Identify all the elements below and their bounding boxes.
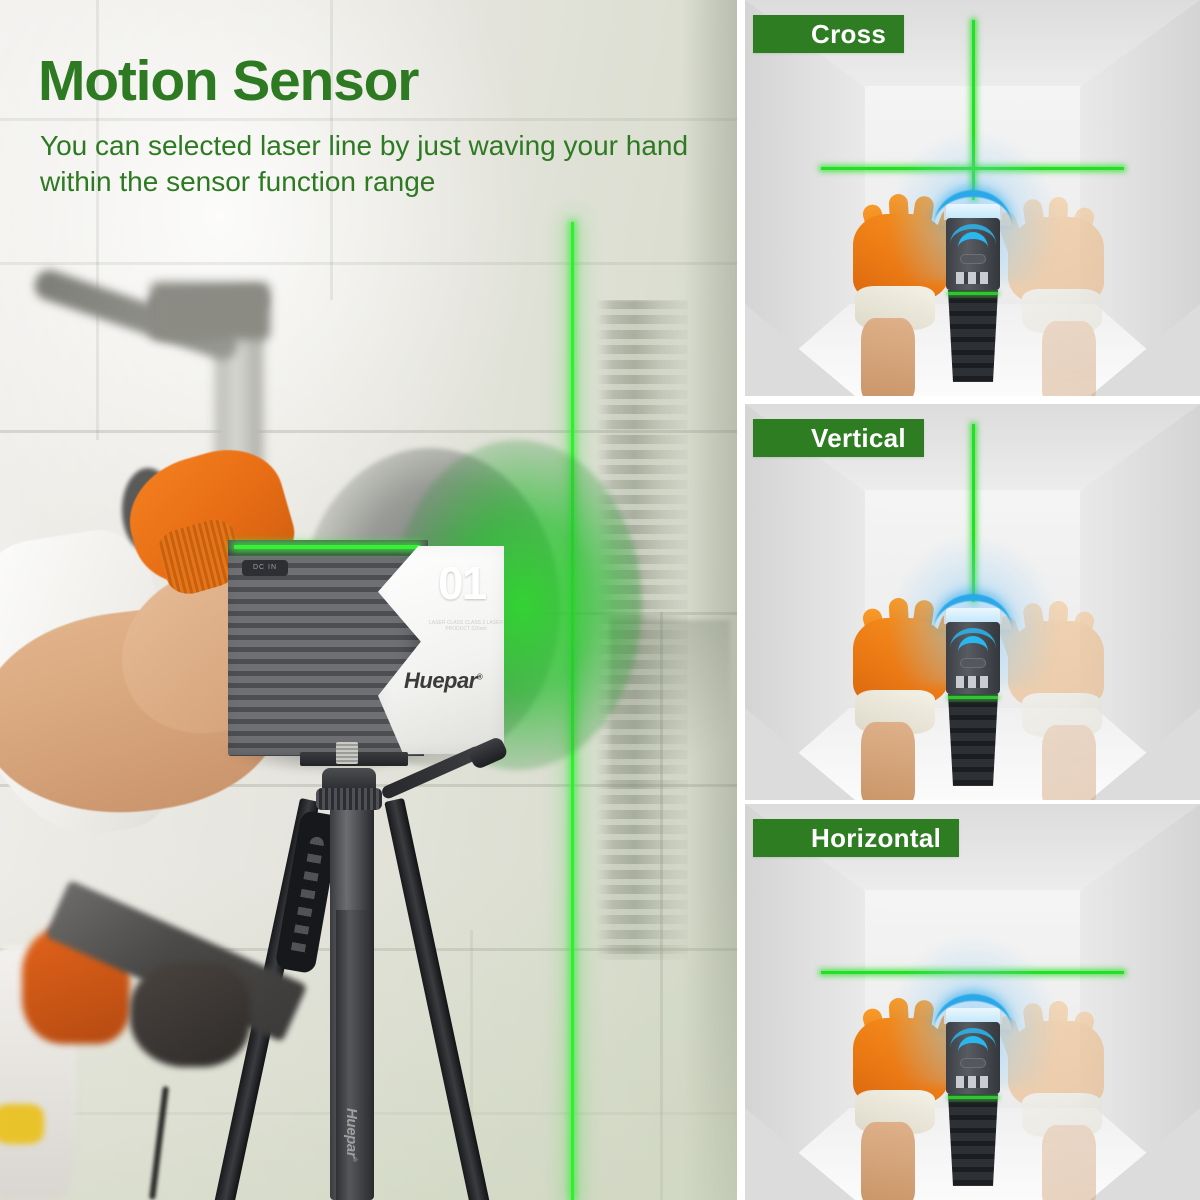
wrist: [861, 1122, 915, 1200]
wrist: [861, 318, 915, 396]
tripod-mount-screw: [336, 742, 358, 764]
registered-mark-icon: ®: [477, 673, 482, 682]
device-power-button[interactable]: [960, 254, 986, 264]
registered-mark-icon: ®: [351, 1157, 357, 1161]
panel-label-cross: Cross: [753, 15, 904, 53]
wrist: [1042, 321, 1096, 396]
device-laser-slit: [948, 1096, 998, 1099]
panel-label-horizontal: Horizontal: [753, 819, 959, 857]
foreground-worker-glove: [130, 962, 250, 1067]
background-machine-head: [150, 282, 270, 340]
device-model-number: 01: [438, 556, 485, 610]
laser-level-device: DC IN 01 LASER CLASS CLASS 2 LASER PRODU…: [228, 536, 498, 766]
device-brand-logo: Huepar®: [404, 668, 482, 694]
wall-seam: [0, 262, 737, 265]
panel-horizontal: Horizontal: [745, 804, 1200, 1200]
panel-cross: Cross: [745, 0, 1200, 396]
device-lower-body: [948, 1094, 998, 1186]
tripod-lock-knob: [316, 788, 382, 810]
tripod-brand-text: Huepar: [343, 1108, 360, 1157]
device-keypad[interactable]: [956, 272, 990, 284]
device-laser-emitter-line: [234, 545, 420, 549]
wall-seam: [0, 118, 737, 121]
panel-label-vertical: Vertical: [753, 419, 924, 457]
wrist: [1042, 725, 1096, 800]
device-fine-print: LASER CLASS CLASS 2 LASER PRODUCT 520nm: [422, 620, 510, 632]
device-keypad[interactable]: [956, 1076, 990, 1088]
page-title: Motion Sensor: [38, 52, 418, 112]
wrist: [1042, 1125, 1096, 1200]
device-lower-body: [948, 694, 998, 786]
device-laser-slit: [948, 696, 998, 699]
device-port-label: DC IN: [242, 560, 288, 576]
device-lower-body: [948, 290, 998, 382]
wrist: [861, 722, 915, 800]
device-power-button[interactable]: [960, 658, 986, 668]
page-subtitle: You can selected laser line by just wavi…: [40, 128, 710, 199]
foreground-worker-glove-yellow: [0, 1104, 44, 1144]
panel-vertical: Vertical: [745, 404, 1200, 800]
device-power-button[interactable]: [960, 1058, 986, 1068]
device-laser-slit: [948, 292, 998, 295]
product-marketing-image: DC IN 01 LASER CLASS CLASS 2 LASER PRODU…: [0, 0, 1200, 1200]
device-keypad[interactable]: [956, 676, 990, 688]
hero-photo: DC IN 01 LASER CLASS CLASS 2 LASER PRODU…: [0, 0, 737, 1200]
tripod-brand-logo: Huepar®: [343, 1108, 360, 1161]
device-brand-text: Huepar: [404, 668, 477, 693]
mode-panels: Cross: [745, 0, 1200, 1200]
